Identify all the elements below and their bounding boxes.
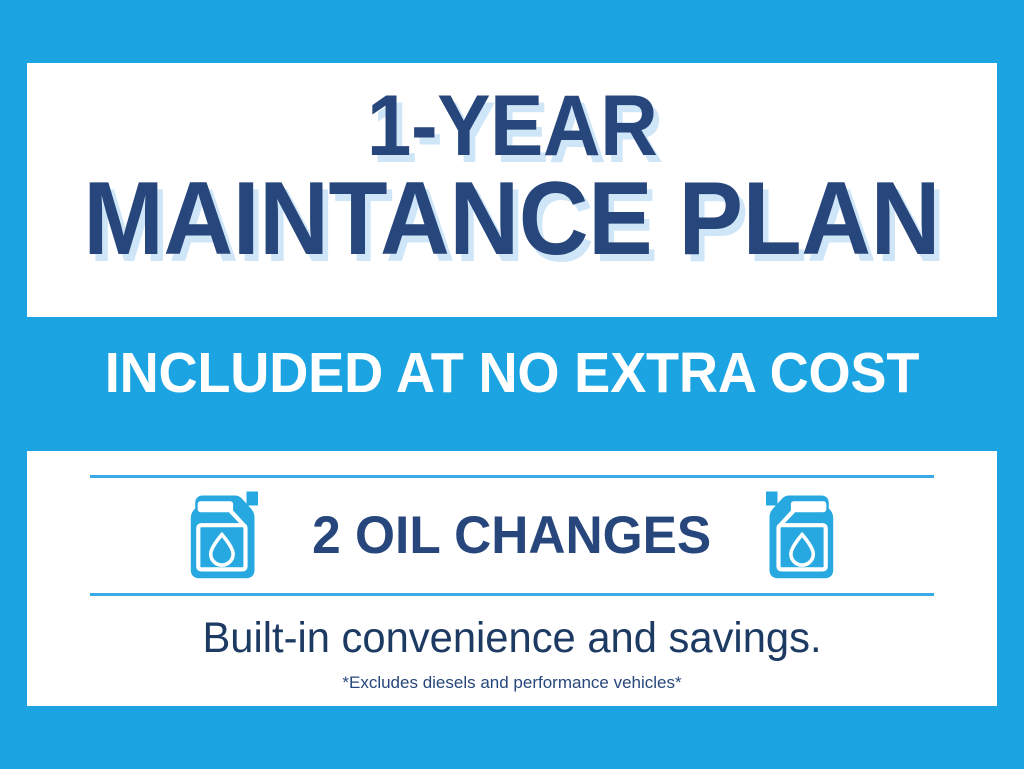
divider-top: [90, 475, 934, 478]
offer-row: 2 OIL CHANGES: [27, 481, 997, 589]
disclaimer-text: *Excludes diesels and performance vehicl…: [27, 673, 997, 693]
headline-panel: 1-YEAR MAINTANCE PLAN: [27, 63, 997, 317]
promo-poster: 1-YEAR MAINTANCE PLAN INCLUDED AT NO EXT…: [0, 0, 1024, 769]
offer-label: 2 OIL CHANGES: [312, 505, 711, 566]
oil-jug-icon: [186, 487, 260, 583]
headline-line-1: 1-YEAR: [367, 87, 658, 166]
headline-line-2: MAINTANCE PLAN: [84, 172, 941, 268]
offer-card: 2 OIL CHANGES Built-in convenience and s…: [27, 451, 997, 706]
divider-bottom: [90, 593, 934, 596]
tagline-text: Built-in convenience and savings.: [42, 614, 983, 663]
subtitle-text: INCLUDED AT NO EXTRA COST: [26, 340, 999, 406]
oil-jug-icon: [764, 487, 838, 583]
